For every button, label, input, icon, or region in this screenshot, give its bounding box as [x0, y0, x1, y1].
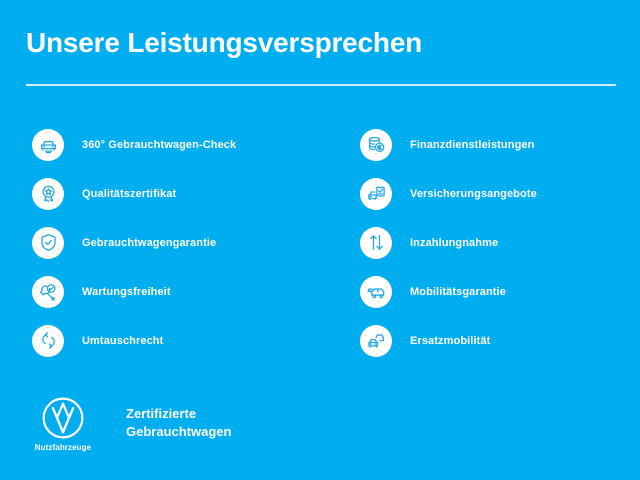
benefit-label: 360° Gebrauchtwagen-Check [82, 139, 236, 151]
car-inspection-icon [32, 129, 64, 161]
benefit-item-gebrauchtwagengarantie: Gebrauchtwagengarantie [32, 218, 320, 267]
footer-claim-line2: Gebrauchtwagen [126, 423, 231, 441]
benefit-item-inzahlungnahme: Inzahlungnahme [360, 218, 640, 267]
brand-subbrand-label: Nutzfahrzeuge [26, 443, 100, 452]
coins-euro-icon [360, 129, 392, 161]
benefit-label: Ersatzmobilität [410, 335, 490, 347]
benefit-label: Wartungsfreiheit [82, 286, 171, 298]
benefits-grid: 360° Gebrauchtwagen-Check Qualitätszerti… [0, 120, 640, 365]
benefit-label: Gebrauchtwagengarantie [82, 237, 216, 249]
page-title: Unsere Leistungsversprechen [26, 28, 616, 59]
benefit-item-ersatzmobilitaet: Ersatzmobilität [360, 316, 640, 365]
benefit-item-wartungsfreiheit: Wartungsfreiheit [32, 267, 320, 316]
benefit-item-finanzdienstleistungen: Finanzdienstleistungen [360, 120, 640, 169]
shield-check-icon [32, 227, 64, 259]
benefit-label: Mobilitätsgarantie [410, 286, 506, 298]
benefit-item-gebrauchtwagen-check: 360° Gebrauchtwagen-Check [32, 120, 320, 169]
slide-root: Unsere Leistungsversprechen 360° Gebrauc… [0, 0, 640, 480]
volkswagen-logo [41, 396, 85, 440]
benefit-label: Finanzdienstleistungen [410, 139, 534, 151]
two-cars-icon [360, 325, 392, 357]
award-rosette-icon [32, 178, 64, 210]
benefit-item-mobilitaetsgarantie: Mobilitätsgarantie [360, 267, 640, 316]
benefit-label: Umtauschrecht [82, 335, 163, 347]
benefit-item-versicherungsangebote: Versicherungsangebote [360, 169, 640, 218]
tow-van-icon [360, 276, 392, 308]
footer: Nutzfahrzeuge Zertifizierte Gebrauchtwag… [26, 396, 231, 452]
footer-claim: Zertifizierte Gebrauchtwagen [126, 405, 231, 440]
benefits-column-right: Finanzdienstleistungen Versicherungsange… [320, 120, 640, 365]
title-divider [26, 84, 616, 86]
car-document-check-icon [360, 178, 392, 210]
benefits-column-left: 360° Gebrauchtwagen-Check Qualitätszerti… [0, 120, 320, 365]
brand-lockup: Nutzfahrzeuge [26, 396, 100, 452]
benefit-item-umtauschrecht: Umtauschrecht [32, 316, 320, 365]
benefit-label: Qualitätszertifikat [82, 188, 176, 200]
wrench-check-icon [32, 276, 64, 308]
benefit-item-qualitaetszertifikat: Qualitätszertifikat [32, 169, 320, 218]
up-down-arrows-icon [360, 227, 392, 259]
benefit-label: Versicherungsangebote [410, 188, 537, 200]
footer-claim-line1: Zertifizierte [126, 405, 231, 423]
header: Unsere Leistungsversprechen [26, 28, 616, 59]
exchange-arrows-icon [32, 325, 64, 357]
benefit-label: Inzahlungnahme [410, 237, 498, 249]
